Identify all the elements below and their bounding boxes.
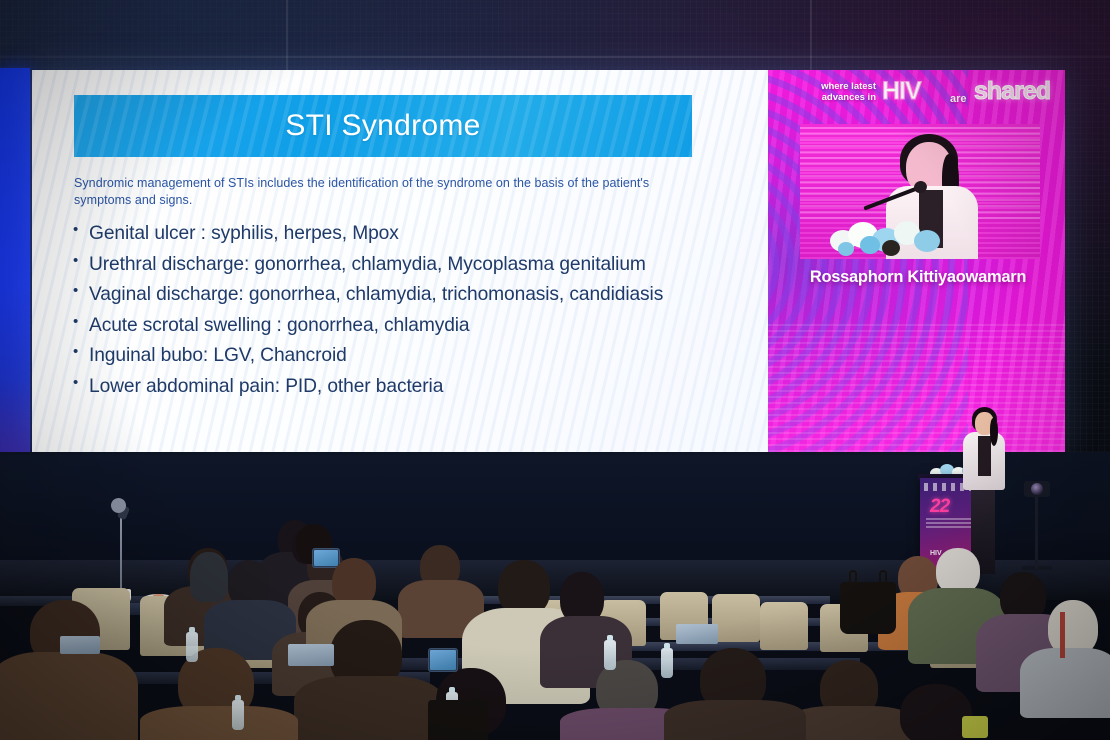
laptop[interactable] xyxy=(288,644,334,666)
led-side-panel: where latest advances in HIV are shared xyxy=(768,70,1065,452)
live-camera-feed xyxy=(800,124,1040,259)
podium-conference-text xyxy=(926,518,972,528)
water-bottle xyxy=(186,632,198,662)
tagline-line-2: advances in xyxy=(784,92,876,103)
slide-title-band: STI Syndrome xyxy=(74,95,692,157)
stage-curtain xyxy=(0,455,930,567)
tagline-line-1: where latest xyxy=(784,81,876,92)
presentation-slide: STI Syndrome Syndromic management of STI… xyxy=(32,70,768,452)
projection-screen: STI Syndrome Syndromic management of STI… xyxy=(32,70,1065,452)
tagline-are-word: are xyxy=(950,93,967,105)
conference-photo: STI Syndrome Syndromic management of STI… xyxy=(0,0,1110,740)
phone-screen xyxy=(314,550,338,566)
water-bottle xyxy=(232,700,244,730)
handbag xyxy=(840,582,896,634)
monitor-lens xyxy=(1031,483,1043,495)
tagline-hiv-word: HIV xyxy=(882,77,921,106)
tagline-shared-word: shared xyxy=(974,77,1050,106)
bullet-item: Vaginal discharge: gonorrhea, chlamydia,… xyxy=(72,283,752,306)
bullet-item: Acute scrotal swelling : gonorrhea, chla… xyxy=(72,314,752,337)
wall-seam-horizontal xyxy=(0,56,1110,58)
slide-title: STI Syndrome xyxy=(285,109,480,143)
name-badge xyxy=(962,716,988,738)
stage-speaker-lapel xyxy=(978,436,991,476)
bullet-item: Genital ulcer : syphilis, herpes, Mpox xyxy=(72,222,752,245)
laptop[interactable] xyxy=(60,636,100,654)
tagline-small-text: where latest advances in xyxy=(784,81,876,103)
phone-screen xyxy=(430,650,456,670)
handbag xyxy=(428,700,488,740)
left-edge-screen-panel xyxy=(0,68,30,460)
laptop[interactable] xyxy=(676,624,718,644)
seat xyxy=(760,602,808,650)
water-bottle xyxy=(604,640,616,670)
bullet-item: Urethral discharge: gonorrhea, chlamydia… xyxy=(72,253,752,276)
smartphone[interactable] xyxy=(428,648,458,672)
water-bottle xyxy=(661,648,673,678)
slide-bullet-list: Genital ulcer : syphilis, herpes, Mpox U… xyxy=(72,222,752,405)
feed-flower-arrangement xyxy=(822,216,952,259)
speaker-name-label: Rossaphorn Kittiyaowamarn xyxy=(778,268,1058,287)
bullet-item: Inguinal bubo: LGV, Chancroid xyxy=(72,344,752,367)
conference-tagline: where latest advances in HIV are shared xyxy=(782,80,1057,116)
stage-speaker-hair-side xyxy=(990,418,998,446)
smartphone[interactable] xyxy=(312,548,340,568)
seat xyxy=(712,594,760,642)
slide-subtitle: Syndromic management of STIs includes th… xyxy=(74,175,690,208)
podium-logo-number: 22 xyxy=(930,496,949,518)
led-lower-glow xyxy=(768,320,1065,452)
bullet-item: Lower abdominal pain: PID, other bacteri… xyxy=(72,375,752,398)
lanyard xyxy=(1060,612,1065,658)
monitor-stand xyxy=(1035,497,1038,569)
